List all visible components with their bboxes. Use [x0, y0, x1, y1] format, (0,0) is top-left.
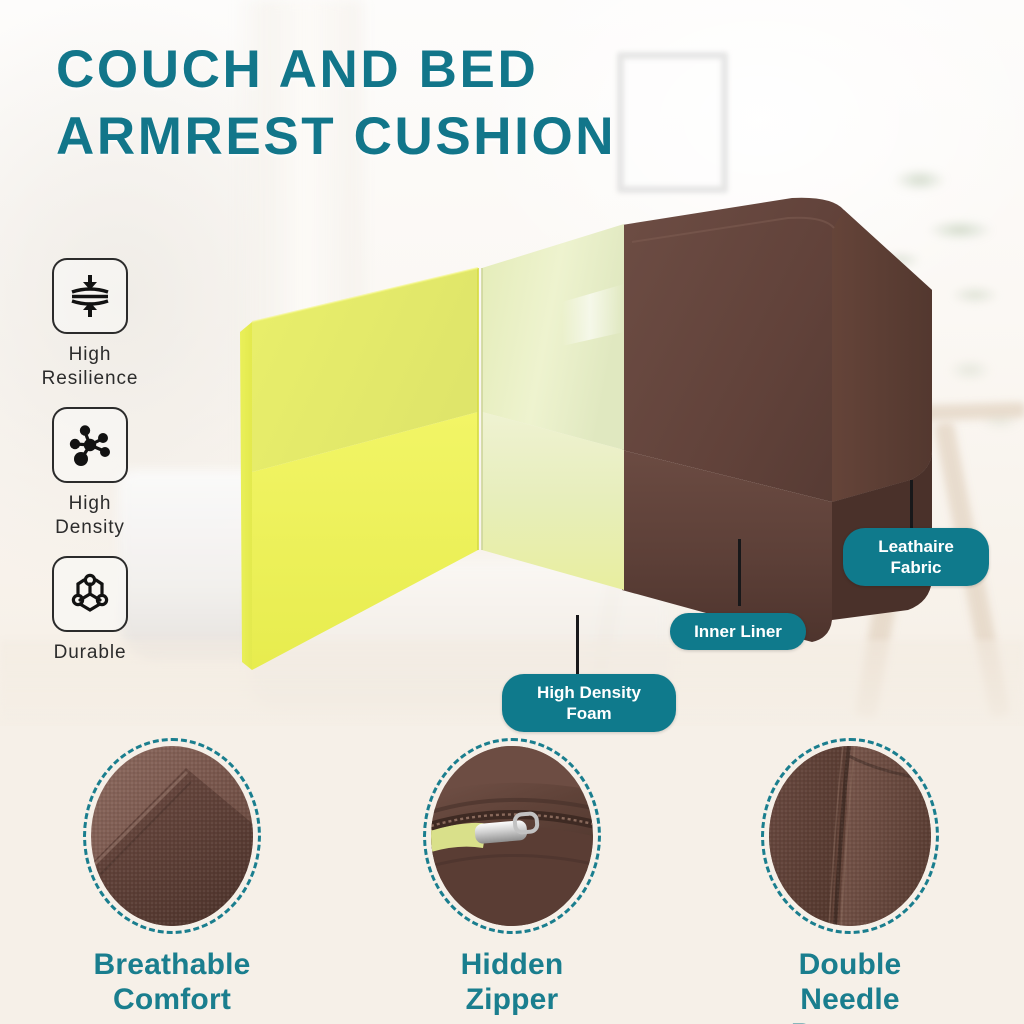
leader-line-foam	[576, 615, 579, 677]
hexagon-lattice-icon	[52, 556, 128, 632]
detail-circle	[423, 738, 601, 934]
feature-item-high-resilience: High Resilience	[20, 258, 160, 391]
callout-inner-liner[interactable]: Inner Liner	[670, 613, 806, 650]
detail-caption: Double Needle Process	[750, 947, 950, 1024]
feature-label: Durable	[20, 641, 160, 665]
callout-high-density-foam[interactable]: High Density Foam	[502, 674, 676, 732]
detail-circle	[761, 738, 939, 934]
leader-line-liner	[738, 539, 741, 606]
feature-item-durable: Durable	[20, 556, 160, 665]
molecule-cluster-icon	[52, 407, 128, 483]
fabric-end-face	[832, 210, 932, 502]
detail-caption: Hidden Zipper	[412, 947, 612, 1017]
dashed-ring	[761, 738, 939, 934]
dashed-ring	[423, 738, 601, 934]
compression-arrows-icon	[52, 258, 128, 334]
cushion-cutaway-illustration	[232, 150, 992, 710]
foam-left-face	[240, 322, 252, 670]
dashed-ring	[83, 738, 261, 934]
feature-label: High Density	[20, 492, 160, 540]
detail-double-needle: Double Needle Process	[750, 738, 950, 1024]
leader-line-fabric	[910, 480, 913, 530]
title-line-1: COUCH AND BED	[56, 36, 756, 103]
callout-leathaire-fabric[interactable]: Leathaire Fabric	[843, 528, 989, 586]
detail-circle	[83, 738, 261, 934]
detail-breathable-comfort: Breathable Comfort	[72, 738, 272, 1017]
detail-hidden-zipper: Hidden Zipper	[412, 738, 612, 1017]
feature-item-high-density: High Density	[20, 407, 160, 540]
feature-label: High Resilience	[20, 343, 160, 391]
product-infographic: COUCH AND BED ARMREST CUSHION High Resil…	[0, 0, 1024, 1024]
detail-caption: Breathable Comfort	[72, 947, 272, 1017]
feature-icon-list: High Resilience	[20, 258, 160, 681]
liner-top-face	[482, 224, 624, 450]
